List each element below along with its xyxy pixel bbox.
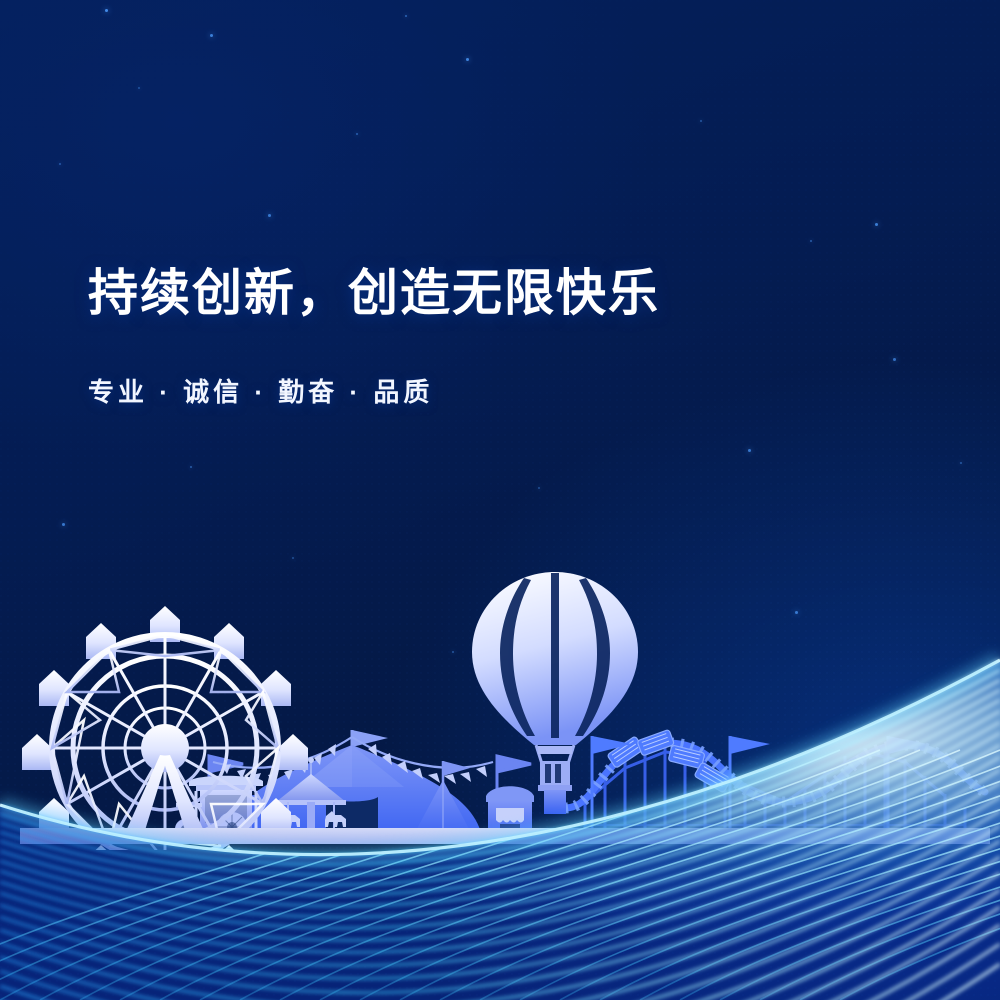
page-subtitle: 专业 · 诚信 · 勤奋 · 品质 <box>88 372 788 409</box>
glow-wave-mesh <box>0 600 1000 1000</box>
promo-banner: 持续创新，创造无限快乐 专业 · 诚信 · 勤奋 · 品质 <box>0 0 1000 1000</box>
page-title: 持续创新，创造无限快乐 <box>88 266 908 321</box>
